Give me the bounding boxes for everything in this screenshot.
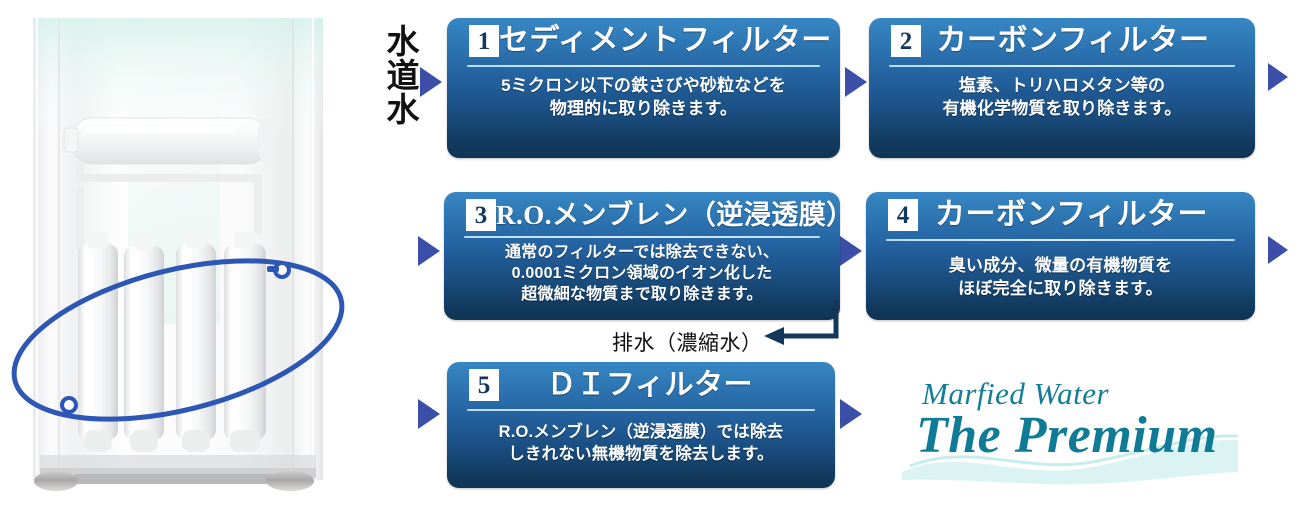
arrow-step5-to-brand: [840, 399, 862, 429]
step-2-title: カーボンフィルター: [921, 26, 1255, 56]
step-4-description: 臭い成分、微量の有機物質を ほぼ完全に取り除きます。: [866, 241, 1255, 300]
step-3-number: 3: [466, 199, 496, 231]
step-1-number: 1: [469, 25, 499, 57]
step-4-desc-line-1: 臭い成分、微量の有機物質を: [880, 255, 1241, 278]
drain-label: 排水（濃縮水）: [612, 327, 763, 357]
step-box-1[interactable]: 1 セディメントフィルター 5ミクロン以下の鉄さびや砂粒などを 物理的に取り除き…: [447, 18, 840, 158]
step-3-title: R.O.メンブレン（逆浸透膜）: [496, 202, 840, 229]
purifier-photo: [0, 0, 370, 510]
arrow-inlet-to-step1: [420, 67, 442, 97]
step-5-desc-line-1: R.O.メンブレン（逆浸透膜）では除去: [461, 422, 821, 444]
purifier-base: [34, 468, 316, 491]
arrow-step3-to-step4: [840, 236, 862, 266]
step-5-title: ＤＩフィルター: [499, 371, 835, 400]
step-box-5[interactable]: 5 ＤＩフィルター R.O.メンブレン（逆浸透膜）では除去 しきれない無機物質を…: [447, 362, 835, 488]
step-1-header: 1 セディメントフィルター: [447, 18, 840, 59]
step-5-header: 5 ＤＩフィルター: [447, 362, 835, 403]
step-2-description: 塩素、トリハロメタン等の 有機化学物質を取り除きます。: [869, 67, 1255, 120]
step-5-number: 5: [469, 369, 499, 401]
step-3-desc-line-1: 通常のフィルターでは除去できない、: [458, 243, 826, 264]
arrow-step2-to-step3: [1268, 63, 1288, 91]
brand-line-2: The Premium: [916, 406, 1218, 465]
arrow-step1-to-step2: [845, 67, 867, 97]
step-5-description: R.O.メンブレン（逆浸透膜）では除去 しきれない無機物質を除去します。: [447, 411, 835, 466]
step-box-4[interactable]: 4 カーボンフィルター 臭い成分、微量の有機物質を ほぼ完全に取り除きます。: [866, 192, 1255, 320]
step-4-desc-line-2: ほぼ完全に取り除きます。: [880, 278, 1241, 301]
brand-logo: Marfied Water The Premium: [900, 368, 1240, 488]
step-1-desc-line-2: 物理的に取り除きます。: [461, 98, 826, 121]
step-2-header: 2 カーボンフィルター: [869, 18, 1255, 59]
step-2-desc-line-2: 有機化学物質を取り除きます。: [883, 98, 1241, 121]
step-1-description: 5ミクロン以下の鉄さびや砂粒などを 物理的に取り除きます。: [447, 67, 840, 120]
arrow-into-step3: [418, 236, 440, 266]
step-3-desc-line-2: 0.0001ミクロン領域のイオン化した: [458, 264, 826, 285]
drain-route: [760, 300, 870, 350]
step-3-header: 3 R.O.メンブレン（逆浸透膜）: [444, 192, 840, 233]
step-2-desc-line-1: 塩素、トリハロメタン等の: [883, 75, 1241, 98]
step-4-title: カーボンフィルター: [918, 200, 1255, 230]
inlet-label-tap-water: 水道水: [372, 24, 418, 126]
step-2-number: 2: [891, 25, 921, 57]
step-1-desc-line-1: 5ミクロン以下の鉄さびや砂粒などを: [461, 75, 826, 98]
arrow-into-step5: [418, 399, 440, 429]
arrow-step4-to-step5: [1268, 236, 1288, 264]
step-4-header: 4 カーボンフィルター: [866, 192, 1255, 233]
step-5-desc-line-2: しきれない無機物質を除去します。: [461, 444, 821, 466]
step-3-description: 通常のフィルターでは除去できない、 0.0001ミクロン領域のイオン化した 超微…: [444, 238, 840, 305]
ro-membrane-tank: [64, 118, 275, 164]
step-box-2[interactable]: 2 カーボンフィルター 塩素、トリハロメタン等の 有機化学物質を取り除きます。: [869, 18, 1255, 158]
step-4-number: 4: [888, 199, 918, 231]
step-1-title: セディメントフィルター: [499, 26, 840, 56]
